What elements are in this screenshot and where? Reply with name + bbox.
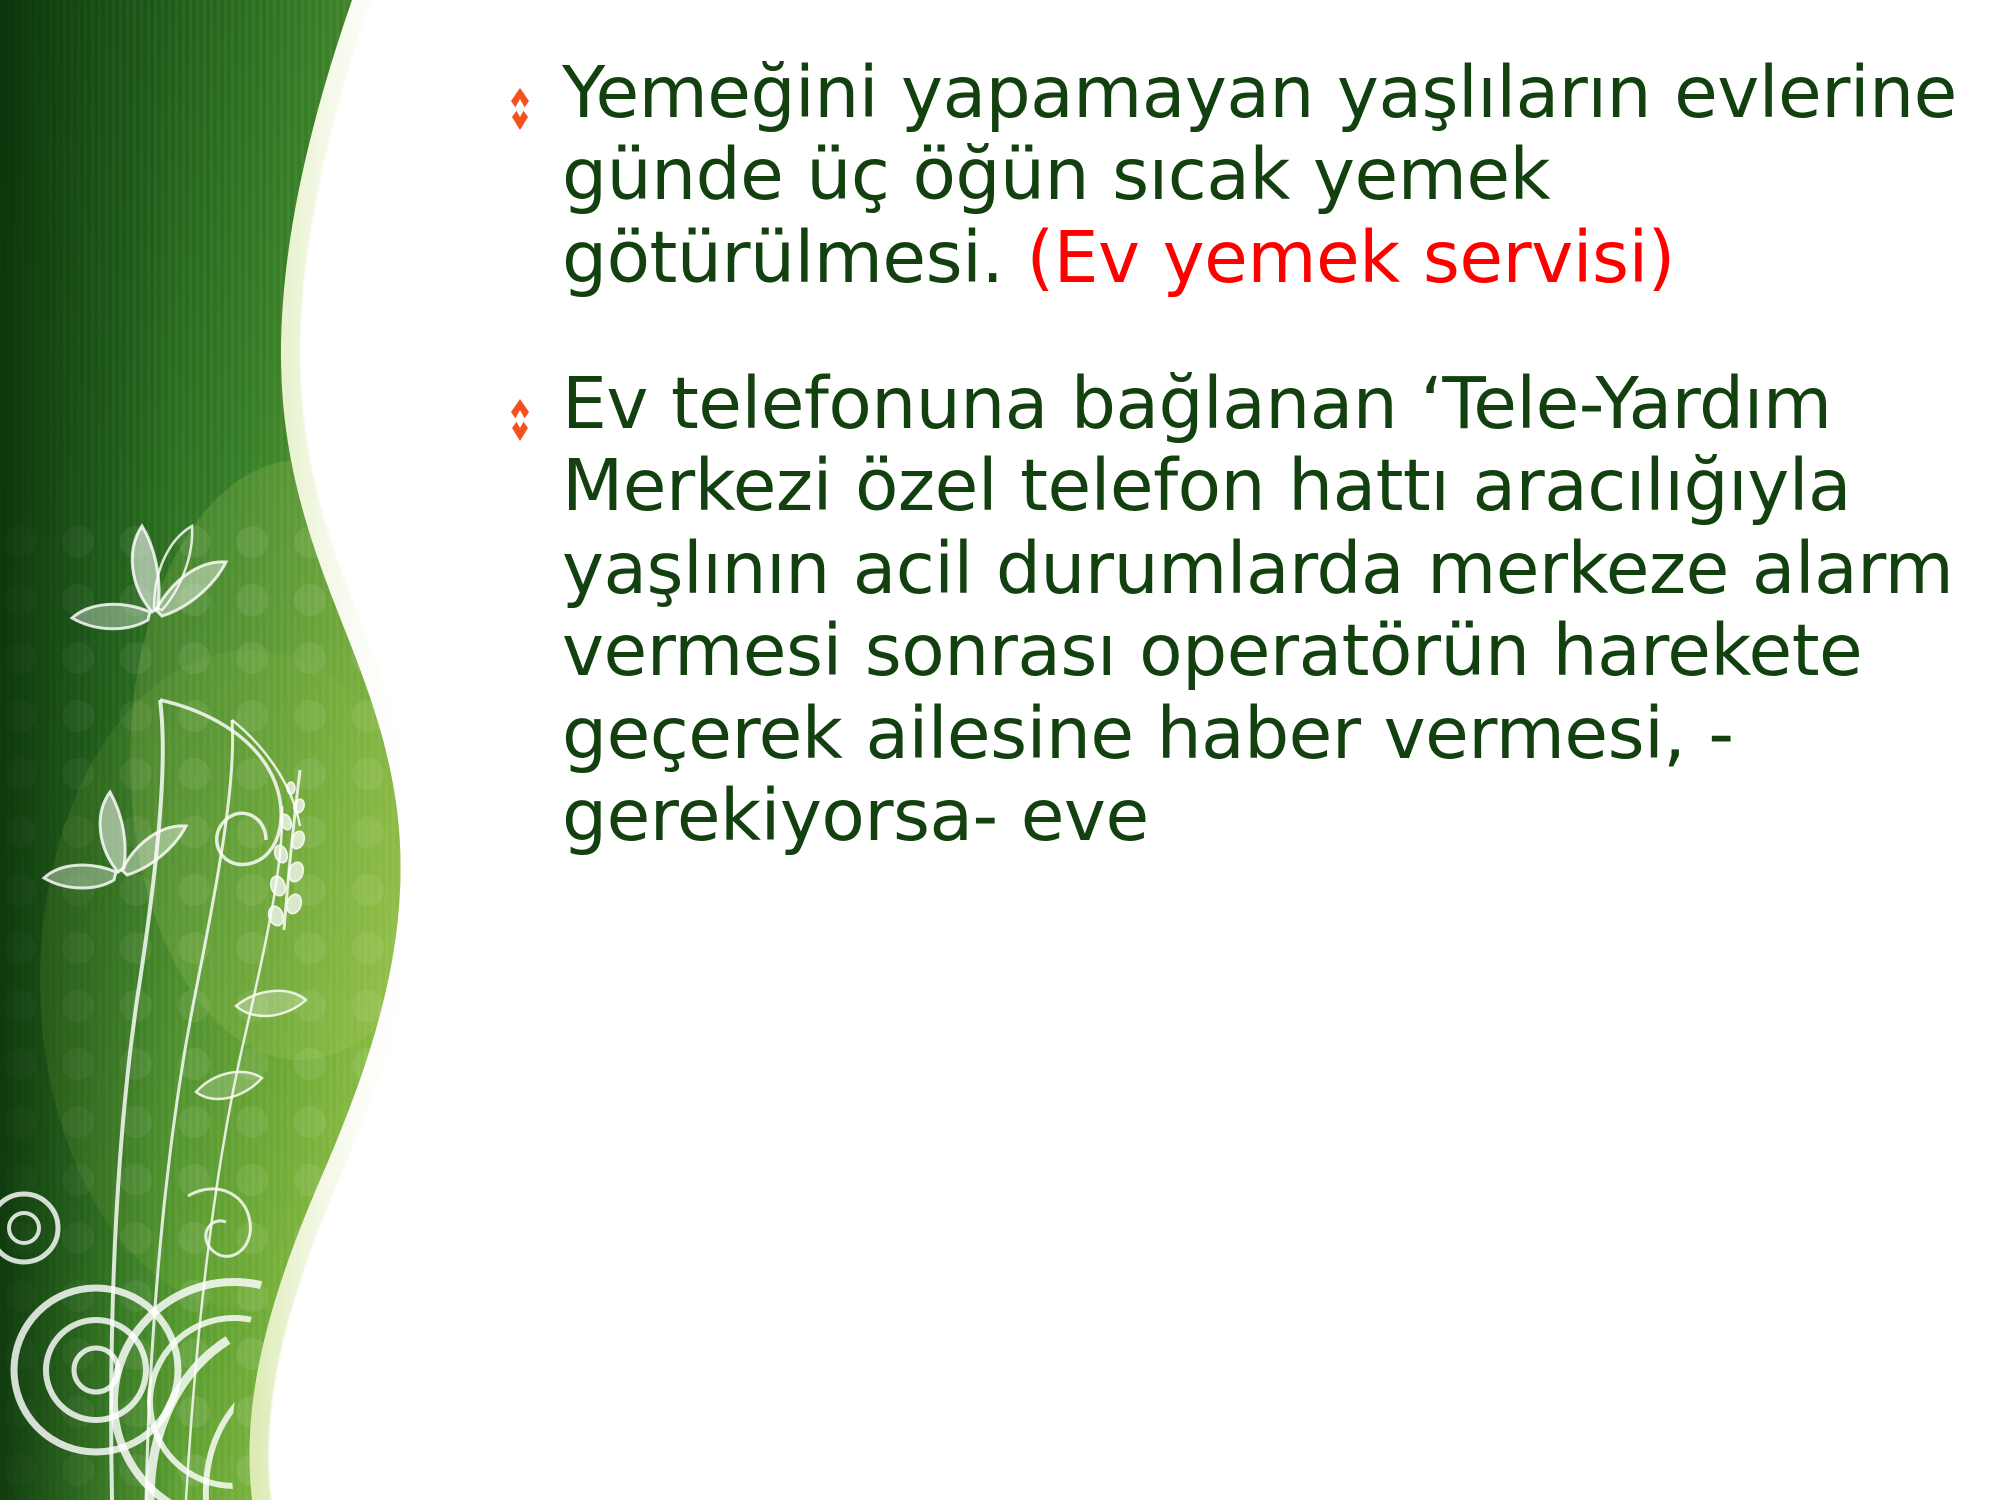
green-floral-sidebar (0, 0, 470, 1500)
presentation-slide: Yemeğini yapamayan yaşlıların evlerine g… (0, 0, 2000, 1500)
bullet-item: Ev telefonuna bağlanan ‘Tele-Yardım Merk… (490, 363, 1960, 857)
bullet-item: Yemeğini yapamayan yaşlıların evlerine g… (490, 52, 1960, 299)
slide-body: Yemeğini yapamayan yaşlıların evlerine g… (470, 0, 2000, 1500)
bullet-text-red: (Ev yemek servisi) (1026, 216, 1674, 299)
bullet-text-green: Ev telefonuna bağlanan ‘Tele-Yardım Merk… (562, 362, 1953, 857)
slide-corner-mark (1968, 1482, 1994, 1496)
diamond-bullet-icon (498, 66, 542, 110)
diamond-bullet-icon (498, 377, 542, 421)
